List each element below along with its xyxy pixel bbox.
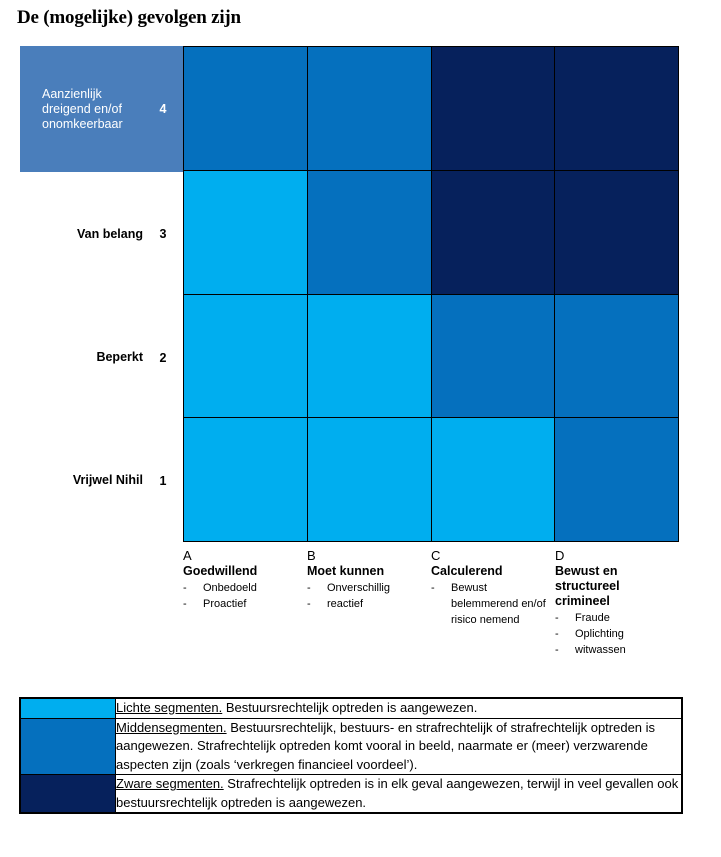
column-bullet-item: -Oplichting	[555, 626, 673, 642]
column-bullet-item: -Proactief	[183, 596, 301, 612]
column-title: Calculerend	[431, 564, 549, 579]
matrix-row-number: 1	[143, 474, 183, 488]
column-bullet-list: -Bewust belemmerend en/of risico nemend	[431, 580, 549, 628]
column-bullet-item: -reactief	[307, 596, 425, 612]
legend-description-cell: Zware segmenten. Strafrechtelijk optrede…	[116, 775, 682, 813]
matrix-cell-A3[interactable]	[184, 171, 308, 295]
column-letter: B	[307, 548, 425, 564]
bullet-text: witwassen	[575, 642, 673, 658]
legend-color-swatch	[21, 699, 116, 719]
matrix-cell-B4[interactable]	[308, 47, 432, 171]
column-bullet-item: -Onbedoeld	[183, 580, 301, 596]
matrix-cell-B1[interactable]	[308, 418, 432, 542]
legend-color-swatch	[21, 718, 116, 775]
matrix-column-header-A: AGoedwillend-Onbedoeld-Proactief	[183, 548, 307, 678]
bullet-dash-icon: -	[431, 580, 451, 628]
column-title: Bewust en structureel crimineel	[555, 564, 673, 609]
column-letter: A	[183, 548, 301, 564]
matrix-row-label-text: Beperkt	[20, 350, 143, 365]
bullet-text: Fraude	[575, 610, 673, 626]
matrix-row-label-3: Van belang3	[20, 172, 183, 296]
matrix-row-number: 4	[143, 102, 183, 116]
matrix-cell-A2[interactable]	[184, 295, 308, 419]
matrix-row-label-1: Vrijwel Nihil1	[20, 419, 183, 542]
matrix-cell-D2[interactable]	[555, 295, 679, 419]
matrix-column-headers: AGoedwillend-Onbedoeld-ProactiefBMoet ku…	[183, 548, 679, 678]
legend-body-text: Bestuursrechtelijk optreden is aangeweze…	[222, 700, 477, 715]
column-bullet-list: -Onverschillig-reactief	[307, 580, 425, 612]
matrix-row-label-text: Van belang	[20, 227, 143, 242]
matrix-row-label-2: Beperkt2	[20, 296, 183, 419]
column-bullet-list: -Fraude-Oplichting-witwassen	[555, 610, 673, 658]
bullet-dash-icon: -	[183, 596, 203, 612]
legend-description-cell: Lichte segmenten. Bestuursrechtelijk opt…	[116, 699, 682, 719]
matrix-row-labels: Aanzienlijk dreigend en/of onomkeerbaar4…	[20, 46, 183, 542]
legend-row: Middensegmenten. Bestuursrechtelijk, bes…	[21, 718, 682, 775]
legend-lead-label: Zware segmenten.	[116, 776, 224, 791]
bullet-text: reactief	[327, 596, 425, 612]
column-bullet-item: -Fraude	[555, 610, 673, 626]
matrix-cell-C2[interactable]	[432, 295, 556, 419]
matrix-cell-D4[interactable]	[555, 47, 679, 171]
column-letter: C	[431, 548, 549, 564]
matrix-cell-C3[interactable]	[432, 171, 556, 295]
matrix-cell-A4[interactable]	[184, 47, 308, 171]
matrix-row-label-text: Vrijwel Nihil	[20, 473, 143, 488]
legend-lead-label: Lichte segmenten.	[116, 700, 222, 715]
matrix-column-header-D: DBewust en structureel crimineel-Fraude-…	[555, 548, 679, 678]
bullet-dash-icon: -	[307, 596, 327, 612]
bullet-text: Proactief	[203, 596, 301, 612]
bullet-text: Onbedoeld	[203, 580, 301, 596]
legend-lead-label: Middensegmenten.	[116, 720, 227, 735]
matrix-cell-A1[interactable]	[184, 418, 308, 542]
matrix-cell-B2[interactable]	[308, 295, 432, 419]
matrix-grid	[183, 46, 679, 542]
legend-description-cell: Middensegmenten. Bestuursrechtelijk, bes…	[116, 718, 682, 775]
matrix-cell-C4[interactable]	[432, 47, 556, 171]
matrix-column-header-B: BMoet kunnen-Onverschillig-reactief	[307, 548, 431, 678]
matrix-row-number: 3	[143, 227, 183, 241]
legend: Lichte segmenten. Bestuursrechtelijk opt…	[19, 697, 683, 814]
legend-row: Zware segmenten. Strafrechtelijk optrede…	[21, 775, 682, 813]
risk-matrix: Aanzienlijk dreigend en/of onomkeerbaar4…	[20, 46, 679, 542]
matrix-row-label-4: Aanzienlijk dreigend en/of onomkeerbaar4	[20, 46, 183, 172]
matrix-cell-D3[interactable]	[555, 171, 679, 295]
bullet-dash-icon: -	[307, 580, 327, 596]
legend-color-swatch	[21, 775, 116, 813]
column-title: Moet kunnen	[307, 564, 425, 579]
page-title: De (mogelijke) gevolgen zijn	[17, 6, 241, 30]
bullet-dash-icon: -	[555, 642, 575, 658]
column-bullet-item: -Onverschillig	[307, 580, 425, 596]
column-bullet-list: -Onbedoeld-Proactief	[183, 580, 301, 612]
column-bullet-item: -witwassen	[555, 642, 673, 658]
matrix-cell-C1[interactable]	[432, 418, 556, 542]
bullet-dash-icon: -	[555, 626, 575, 642]
bullet-dash-icon: -	[555, 610, 575, 626]
legend-row: Lichte segmenten. Bestuursrechtelijk opt…	[21, 699, 682, 719]
bullet-text: Oplichting	[575, 626, 673, 642]
column-bullet-item: -Bewust belemmerend en/of risico nemend	[431, 580, 549, 628]
bullet-text: Onverschillig	[327, 580, 425, 596]
matrix-cell-B3[interactable]	[308, 171, 432, 295]
matrix-row-number: 2	[143, 351, 183, 365]
matrix-row-label-text: Aanzienlijk dreigend en/of onomkeerbaar	[20, 87, 143, 132]
legend-table: Lichte segmenten. Bestuursrechtelijk opt…	[20, 698, 682, 813]
matrix-column-header-C: CCalculerend-Bewust belemmerend en/of ri…	[431, 548, 555, 678]
bullet-dash-icon: -	[183, 580, 203, 596]
column-letter: D	[555, 548, 673, 564]
column-title: Goedwillend	[183, 564, 301, 579]
bullet-text: Bewust belemmerend en/of risico nemend	[451, 580, 549, 628]
matrix-cell-D1[interactable]	[555, 418, 679, 542]
